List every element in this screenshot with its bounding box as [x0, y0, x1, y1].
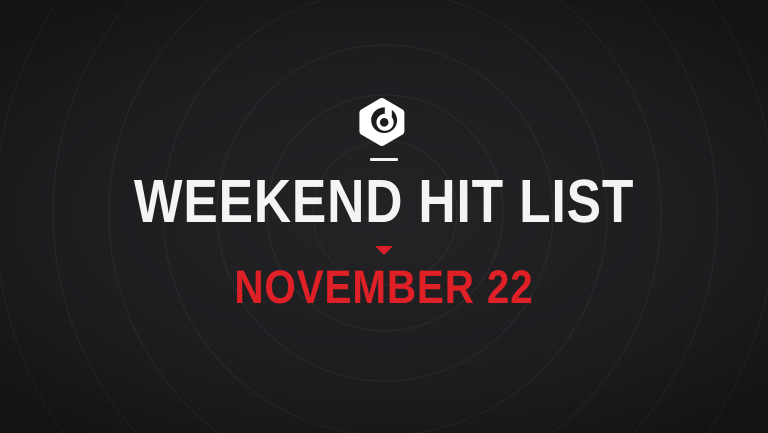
hero-content: WEEKEND HIT LIST NOVEMBER 22 — [0, 0, 768, 433]
dash-divider — [370, 158, 398, 161]
date-label: NOVEMBER 22 — [234, 263, 533, 310]
page-title: WEEKEND HIT LIST — [134, 171, 634, 232]
poster-canvas: WEEKEND HIT LIST NOVEMBER 22 — [0, 0, 768, 433]
beats-hexagon-logo — [359, 97, 409, 147]
triangle-down-icon — [375, 246, 393, 255]
